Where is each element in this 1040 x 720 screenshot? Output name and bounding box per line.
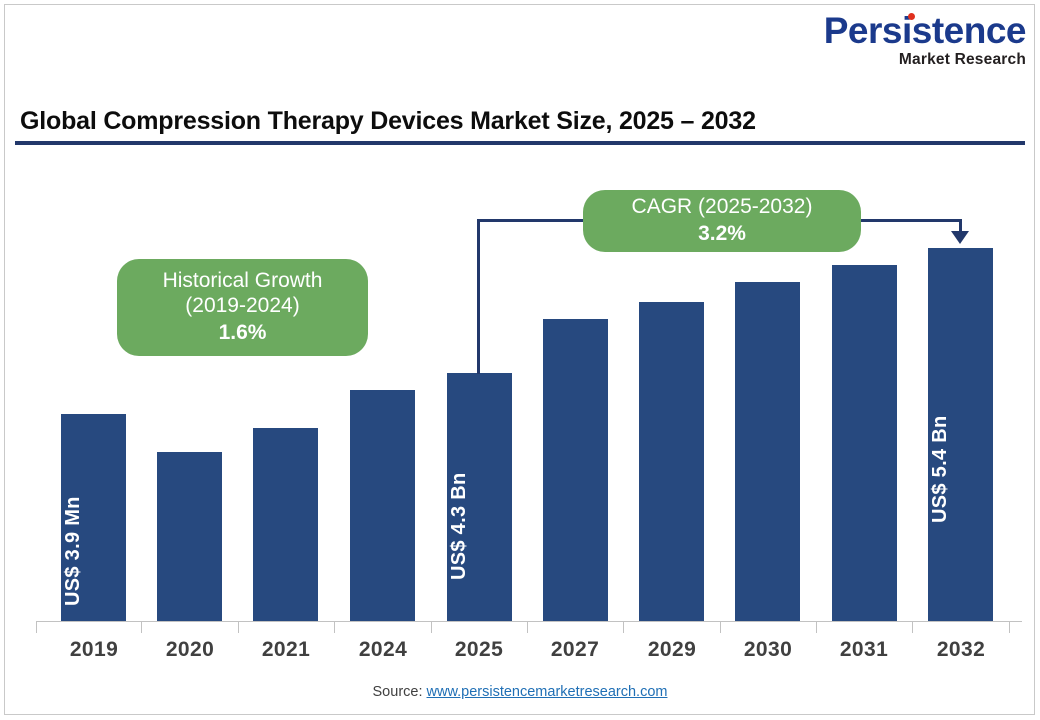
bar-label-2032: US$ 5.4 Bn: [929, 416, 952, 523]
x-axis-label-2020: 2020: [142, 638, 238, 662]
axis-tick: [36, 622, 37, 633]
x-axis-label-2031: 2031: [816, 638, 912, 662]
cagr-connector-horizontal-right: [857, 219, 962, 222]
cagr-connector-vertical-left: [477, 219, 480, 374]
bar-label-2019: US$ 3.9 Mn: [62, 496, 85, 606]
bar-2029: [639, 302, 704, 622]
axis-tick: [141, 622, 142, 633]
x-axis-line: [36, 621, 1022, 622]
axis-tick: [912, 622, 913, 633]
x-axis-label-2030: 2030: [720, 638, 816, 662]
axis-tick: [527, 622, 528, 633]
bar-2027: [543, 319, 608, 622]
source-line: Source: www.persistencemarketresearch.co…: [0, 684, 1040, 700]
chart-page: Persistence Market Research Global Compr…: [0, 0, 1040, 720]
axis-tick: [238, 622, 239, 633]
axis-tick: [816, 622, 817, 633]
axis-tick: [1009, 622, 1010, 633]
bar-2020: [157, 452, 222, 622]
x-axis-label-2032: 2032: [913, 638, 1009, 662]
axis-tick: [334, 622, 335, 633]
cagr-line1: CAGR (2025-2032): [632, 195, 813, 220]
bar-2021: [253, 428, 318, 622]
cagr-value: 3.2%: [698, 220, 746, 247]
bar-label-2025: US$ 4.3 Bn: [448, 473, 471, 580]
bar-2024: [350, 390, 415, 622]
x-axis-label-2021: 2021: [238, 638, 334, 662]
x-axis-label-2027: 2027: [527, 638, 623, 662]
axis-tick: [623, 622, 624, 633]
bar-2031: [832, 265, 897, 622]
x-axis-label-2019: 2019: [46, 638, 142, 662]
x-axis-label-2024: 2024: [335, 638, 431, 662]
historical-growth-value: 1.6%: [219, 319, 267, 346]
historical-growth-line1: Historical Growth: [163, 269, 323, 294]
cagr-callout: CAGR (2025-2032) 3.2%: [583, 190, 861, 252]
historical-growth-callout: Historical Growth (2019-2024) 1.6%: [117, 259, 368, 356]
source-prefix: Source:: [373, 684, 427, 700]
axis-tick: [720, 622, 721, 633]
x-axis-label-2025: 2025: [431, 638, 527, 662]
source-url-link[interactable]: www.persistencemarketresearch.com: [427, 684, 668, 700]
cagr-arrow-icon: [951, 231, 969, 244]
cagr-connector-horizontal-left: [477, 219, 587, 222]
axis-tick: [431, 622, 432, 633]
historical-growth-line2: (2019-2024): [185, 294, 299, 319]
x-axis-label-2029: 2029: [624, 638, 720, 662]
bar-2030: [735, 282, 800, 622]
bar-chart: US$ 3.9 Mn US$ 4.3 Bn US$ 5.4 Bn 2019 20…: [0, 0, 1040, 720]
